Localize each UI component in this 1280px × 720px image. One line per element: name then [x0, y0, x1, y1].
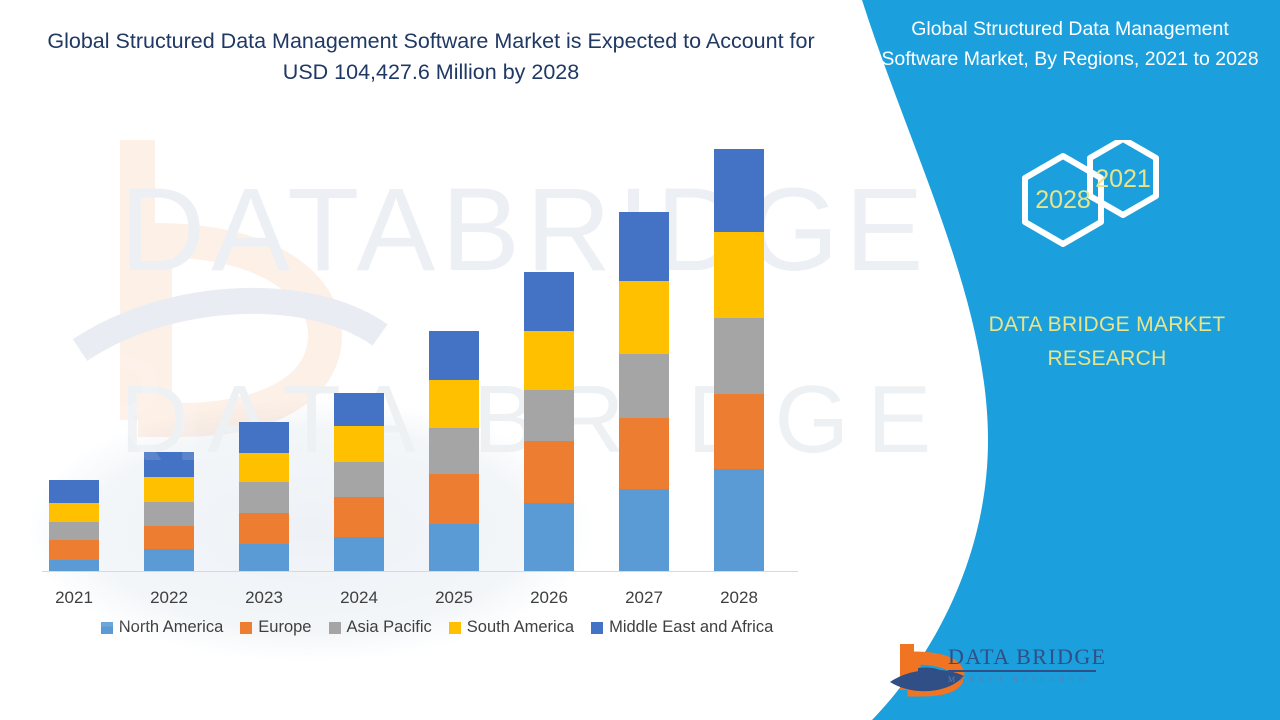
bar-column-2026: [524, 272, 574, 571]
bar-segment: [239, 422, 289, 453]
bar-segment: [714, 318, 764, 394]
legend-swatch-icon: [449, 622, 461, 634]
bar-segment: [429, 331, 479, 380]
x-tick-2021: 2021: [34, 588, 114, 608]
legend-label: South America: [467, 618, 574, 637]
x-tick-2023: 2023: [224, 588, 304, 608]
logo-tagline: MARKET RESEARCH: [948, 675, 1108, 684]
infographic-root: DATABRIDGE DATA BRIDGE RESEARCH Global S…: [0, 0, 1280, 720]
logo-name: DATA BRIDGE: [948, 645, 1108, 669]
bar-segment: [429, 428, 479, 475]
bar-column-2021: [49, 480, 99, 571]
hexagon-2028-label: 2028: [1035, 186, 1091, 214]
bar-segment: [144, 477, 194, 502]
bar-column-2025: [429, 331, 479, 571]
x-tick-2022: 2022: [129, 588, 209, 608]
x-tick-2025: 2025: [414, 588, 494, 608]
legend-swatch-icon: [240, 622, 252, 634]
bar-segment: [334, 393, 384, 426]
x-tick-2024: 2024: [319, 588, 399, 608]
bar-segment: [619, 418, 669, 490]
legend-item[interactable]: South America: [449, 618, 574, 637]
bar-segment: [49, 522, 99, 540]
bar-segment: [334, 426, 384, 462]
bar-segment: [429, 380, 479, 428]
brand-name-line2: RESEARCH: [942, 342, 1272, 376]
bar-segment: [524, 503, 574, 571]
bar-segment: [144, 526, 194, 550]
bar-segment: [49, 540, 99, 559]
year-hexagons: 2028 2021: [965, 140, 1180, 285]
x-axis-tick-labels: 20212022202320242025202620272028: [42, 588, 802, 616]
chart-plot-area: [42, 140, 802, 572]
legend-swatch-icon: [101, 622, 113, 634]
logo-divider: [948, 670, 1096, 672]
bar-segment: [49, 560, 99, 571]
bar-segment: [239, 482, 289, 513]
bar-segment: [144, 452, 194, 477]
bar-column-2027: [619, 212, 669, 571]
bar-column-2023: [239, 422, 289, 571]
bar-segment: [49, 503, 99, 522]
bar-segment: [619, 212, 669, 281]
page-title: Global Structured Data Management Softwa…: [46, 26, 816, 88]
data-bridge-logo-text: DATA BRIDGE MARKET RESEARCH: [948, 645, 1108, 684]
bar-segment: [144, 502, 194, 526]
legend-item[interactable]: North America: [101, 618, 224, 637]
bar-segment: [334, 497, 384, 537]
bar-column-2028: [714, 149, 764, 571]
bar-segment: [429, 524, 479, 571]
bar-segment: [429, 474, 479, 524]
panel-title: Global Structured Data Management Softwa…: [860, 14, 1280, 74]
bar-segment: [239, 513, 289, 544]
bar-segment: [144, 549, 194, 571]
bar-segment: [714, 232, 764, 317]
bar-column-2022: [144, 452, 194, 571]
bar-segment: [714, 469, 764, 571]
hexagon-2021-label: 2021: [1095, 165, 1151, 193]
legend-label: Asia Pacific: [347, 618, 432, 637]
legend-label: Middle East and Africa: [609, 618, 773, 637]
bar-segment: [334, 462, 384, 497]
legend-item[interactable]: Asia Pacific: [329, 618, 432, 637]
bar-column-2024: [334, 393, 384, 571]
bar-segment: [524, 441, 574, 502]
legend-swatch-icon: [329, 622, 341, 634]
legend-swatch-icon: [591, 622, 603, 634]
bar-segment: [714, 149, 764, 232]
legend-label: Europe: [258, 618, 311, 637]
stacked-bar-chart: [42, 140, 802, 575]
bar-segment: [524, 390, 574, 441]
legend-item[interactable]: Europe: [240, 618, 311, 637]
bar-segment: [524, 272, 574, 331]
brand-name: DATA BRIDGE MARKET RESEARCH: [942, 308, 1272, 376]
bar-segment: [239, 544, 289, 571]
legend-label: North America: [119, 618, 224, 637]
bar-segment: [619, 489, 669, 571]
bar-segment: [619, 354, 669, 418]
bar-segment: [524, 331, 574, 390]
bar-segment: [619, 281, 669, 354]
x-tick-2027: 2027: [604, 588, 684, 608]
legend-item[interactable]: Middle East and Africa: [591, 618, 773, 637]
brand-name-line1: DATA BRIDGE MARKET: [942, 308, 1272, 342]
bar-segment: [49, 480, 99, 503]
bar-segment: [714, 394, 764, 469]
x-tick-2026: 2026: [509, 588, 589, 608]
chart-legend: North AmericaEuropeAsia PacificSouth Ame…: [42, 618, 832, 637]
x-axis-line: [42, 571, 798, 572]
x-tick-2028: 2028: [699, 588, 779, 608]
bar-segment: [239, 453, 289, 483]
bar-segment: [334, 537, 384, 571]
